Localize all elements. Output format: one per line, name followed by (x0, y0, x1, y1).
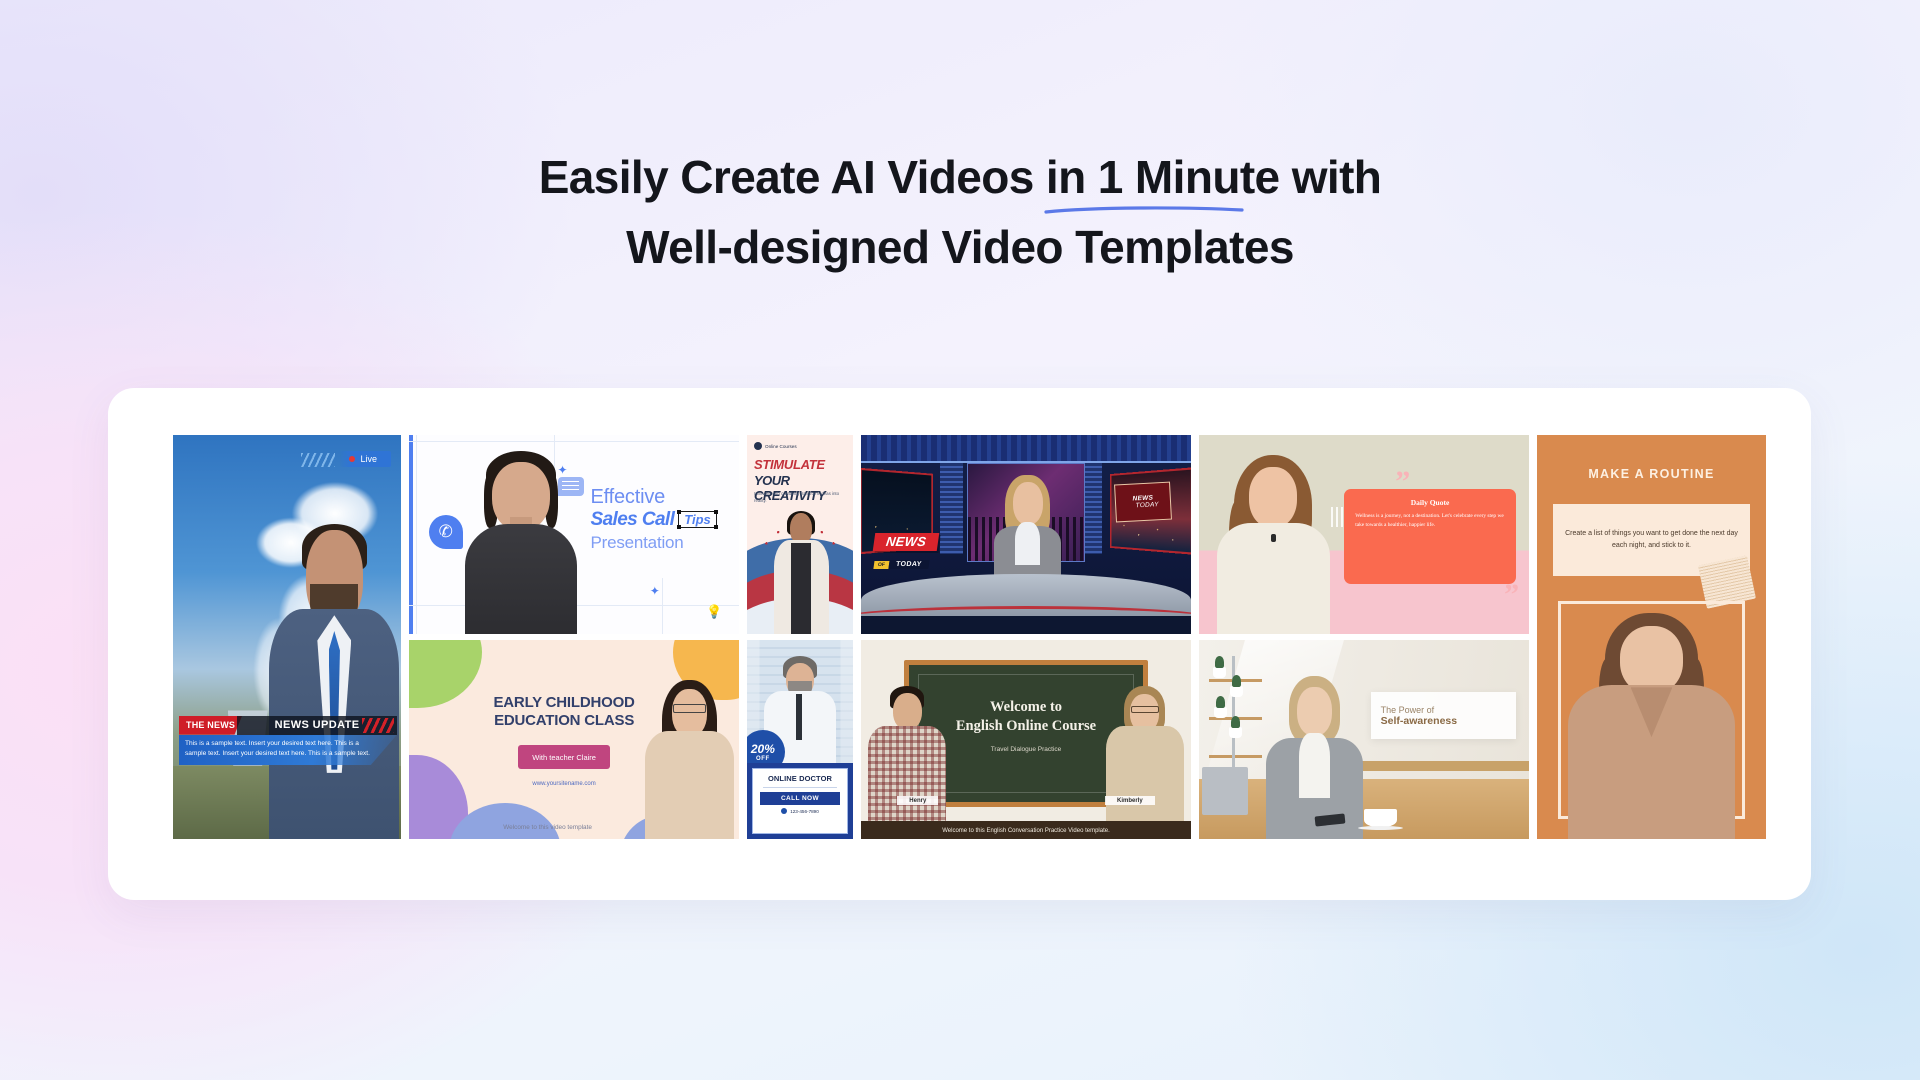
sales-tips-badge: Tips (678, 511, 717, 528)
stimulate-subtitle: Innovate with creativity, transform idea… (754, 490, 845, 504)
quote-title: Daily Quote (1355, 498, 1505, 507)
headline-line-2: Well-designed Video Templates (0, 220, 1920, 274)
sales-card-text: Effective Sales Call Tips Presentation (591, 487, 736, 553)
routine-body: Create a list of things you want to get … (1562, 528, 1741, 551)
course-chip: Online Courses (754, 442, 797, 450)
template-card-sales-call[interactable]: ✦ ✦ ✆ Effective Sales Call Tips Presenta… (409, 435, 739, 634)
presenter-avatar-left (871, 686, 944, 829)
discount-value: 20% (751, 742, 775, 756)
presenter-avatar (1564, 613, 1738, 839)
template-card-english-course[interactable]: Welcome to English Online Course Travel … (861, 640, 1191, 839)
today-badge: OF TODAY (874, 560, 930, 569)
shelf-graphic (1209, 656, 1262, 783)
accent-edge (409, 435, 413, 634)
of-label: OF (874, 561, 890, 569)
news-slashes-icon (362, 718, 394, 733)
template-gallery-panel: Live THE NEWS NEWS UPDATE This is a samp… (108, 388, 1811, 900)
quote-box: Daily Quote Wellness is a journey, not a… (1344, 489, 1516, 585)
presenter-avatar (772, 511, 829, 634)
live-dot-icon (349, 456, 355, 462)
name-tag-left: Henry (897, 796, 938, 805)
headline-part-1: Easily Create AI Videos (539, 151, 1046, 203)
lightbulb-icon: 💡 (706, 604, 722, 620)
headline-part-2: with (1280, 151, 1382, 203)
template-card-self-awareness[interactable]: The Power of Self-awareness (1199, 640, 1529, 839)
presenter-avatar (647, 680, 733, 839)
live-streaks-icon (301, 453, 335, 467)
page-headline: Easily Create AI Videos in 1 Minute with… (0, 150, 1920, 275)
phone-icon: ✆ (429, 515, 463, 549)
template-card-news-today[interactable]: NEWS OF TODAY NEWS TODAY (861, 435, 1191, 634)
phone-row: 123-456-7890 (757, 808, 843, 814)
news-tag: THE NEWS (179, 716, 242, 735)
phone-icon (781, 808, 787, 814)
discount-label: OFF (756, 756, 770, 762)
template-gallery: Live THE NEWS NEWS UPDATE This is a samp… (173, 435, 1746, 839)
presenter-avatar (264, 524, 401, 839)
presenter-avatar-right (1109, 686, 1182, 829)
headline-highlight-text: in 1 Minute (1046, 151, 1280, 203)
brush-underline-icon (1044, 205, 1244, 215)
course-chip-label: Online Courses (765, 444, 797, 449)
childhood-line-2: EDUCATION CLASS (494, 712, 634, 729)
call-now-button[interactable]: CALL NOW (760, 792, 840, 805)
english-caption: Welcome to this English Conversation Pra… (861, 828, 1191, 834)
news-title: NEWS UPDATE (275, 719, 360, 731)
presenter-avatar (1272, 676, 1358, 839)
name-tag-right: Kimberly (1105, 796, 1155, 805)
self-line-2: Self-awareness (1381, 715, 1506, 727)
today-label: TODAY (889, 560, 930, 569)
quote-close-icon: ” (1504, 580, 1519, 610)
plus-icon: ✦ (650, 584, 660, 598)
template-card-stimulate-creativity[interactable]: Online Courses STIMULATE YOUR CREATIVITY… (747, 435, 853, 634)
live-label: Live (360, 454, 377, 464)
laptop-graphic (1202, 767, 1248, 815)
childhood-line-1: EARLY CHILDHOOD (494, 694, 635, 711)
template-card-news-update[interactable]: Live THE NEWS NEWS UPDATE This is a samp… (173, 435, 401, 839)
news-today-card: NEWS TODAY (1114, 481, 1172, 522)
news-body-text: This is a sample text. Insert your desir… (179, 735, 397, 765)
headline-highlight: in 1 Minute (1046, 150, 1280, 204)
phone-number: 123-456-7890 (790, 809, 819, 814)
doctor-info-panel: ONLINE DOCTOR CALL NOW 123-456-7890 (747, 763, 853, 839)
quote-text: Wellness is a journey, not a destination… (1355, 512, 1505, 531)
template-card-daily-quote[interactable]: ” Daily Quote Wellness is a journey, not… (1199, 435, 1529, 634)
self-awareness-title-card: The Power of Self-awareness (1371, 692, 1516, 740)
english-line-2: English Online Course (956, 718, 1096, 734)
coffee-cup-graphic (1364, 809, 1397, 827)
news-lower-third: THE NEWS NEWS UPDATE This is a sample te… (179, 716, 397, 765)
childhood-caption: Welcome to this video template (449, 824, 647, 831)
sales-line-2: Sales Call (591, 509, 675, 531)
presenter-avatar (465, 451, 577, 634)
live-badge: Live (340, 451, 391, 467)
sales-line-3: Presentation (591, 533, 736, 553)
website-url: www.yoursitename.com (492, 781, 637, 787)
sales-line-1: Effective (591, 487, 736, 508)
template-card-online-doctor[interactable]: 20% OFF ONLINE DOCTOR CALL NOW 123-456-7… (747, 640, 853, 839)
news-badge: NEWS (873, 533, 940, 551)
stimulate-line-1: STIMULATE (754, 457, 825, 472)
english-line-1: Welcome to (990, 699, 1062, 715)
teacher-pill: With teacher Claire (518, 745, 610, 769)
studio-ceiling (861, 435, 1191, 463)
routine-title: MAKE A ROUTINE (1537, 467, 1766, 481)
template-card-make-a-routine[interactable]: MAKE A ROUTINE Create a list of things y… (1537, 435, 1766, 839)
doctor-title: ONLINE DOCTOR (757, 774, 843, 783)
self-line-1: The Power of (1381, 705, 1506, 715)
template-card-early-childhood[interactable]: EARLY CHILDHOOD EDUCATION CLASS With tea… (409, 640, 739, 839)
news-card-line-2: TODAY (1136, 501, 1160, 509)
presenter-avatar (996, 475, 1059, 582)
course-badge-icon (754, 442, 762, 450)
childhood-title: EARLY CHILDHOOD EDUCATION CLASS (475, 694, 653, 732)
presenter-avatar (1219, 455, 1328, 634)
